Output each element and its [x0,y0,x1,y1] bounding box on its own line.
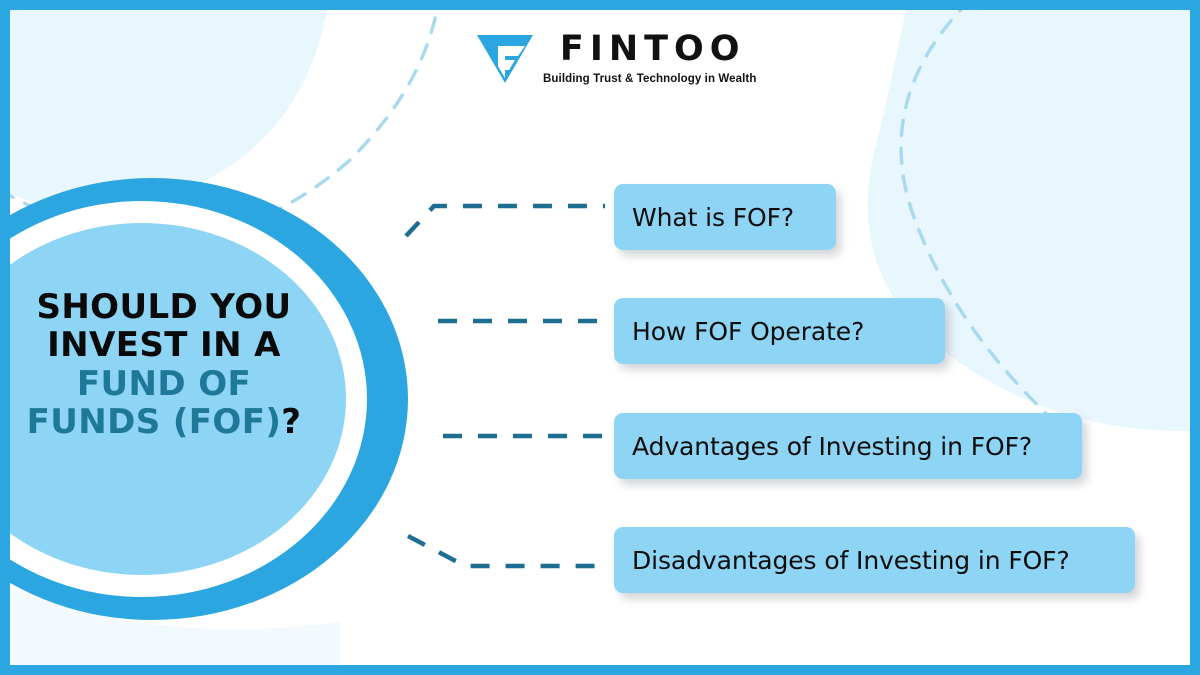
page-title: SHOULD YOU INVEST IN A FUND OF FUNDS (FO… [4,288,324,442]
top-right-blob [868,10,1190,431]
topic-label: Disadvantages of Investing in FOF? [632,546,1070,575]
infographic-canvas: FINTOO Building Trust & Technology in We… [0,0,1200,675]
hero-circle-group: SHOULD YOU INVEST IN A FUND OF FUNDS (FO… [0,178,426,620]
brand-name: FINTOO [554,32,746,67]
brand-tagline: Building Trust & Technology in Wealth [543,74,756,86]
title-line-3: FUND OF [4,365,324,403]
title-line-4: FUNDS (FOF)? [4,403,324,441]
connector-line-4 [408,536,605,566]
top-right-dashed-curve [901,10,1075,440]
title-line-1: SHOULD YOU [4,288,324,326]
title-line-2: INVEST IN A [4,326,324,364]
topic-box-how-fof-operate[interactable]: How FOF Operate? [614,298,945,364]
topic-box-disadvantages-of-investing-in-fof[interactable]: Disadvantages of Investing in FOF? [614,527,1135,593]
title-question-mark: ? [281,402,301,442]
connector-line-1 [406,206,605,236]
brand-text-block: FINTOO Building Trust & Technology in We… [543,32,756,86]
topic-label: Advantages of Investing in FOF? [632,432,1032,461]
fintoo-triangle-f-logo-icon [476,33,534,85]
topic-label: How FOF Operate? [632,317,864,346]
topic-box-what-is-fof[interactable]: What is FOF? [614,184,836,250]
brand-logo: FINTOO Building Trust & Technology in We… [476,32,756,86]
topic-label: What is FOF? [632,203,794,232]
title-line-4-text: FUNDS (FOF) [27,402,282,442]
topic-box-advantages-of-investing-in-fof[interactable]: Advantages of Investing in FOF? [614,413,1082,479]
